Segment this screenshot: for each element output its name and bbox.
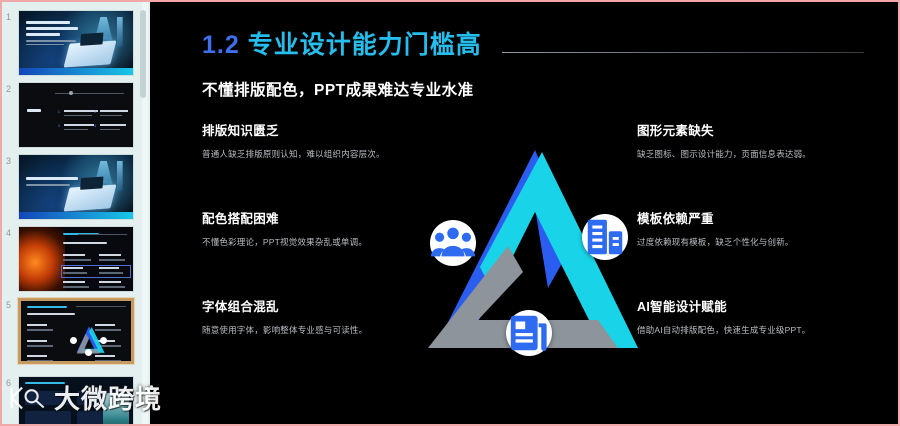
- thumbnail-slide-1[interactable]: [18, 10, 134, 76]
- thumbnail-slide-5[interactable]: [18, 298, 134, 364]
- thumbnail-slide-2-title: [27, 109, 41, 112]
- thumbnail-slide-3-canvas: [19, 155, 133, 219]
- point-title: 配色搭配困难: [202, 208, 447, 227]
- point-item-ai-design-empowerment: AI智能设计赋能 借助AI自动排版配色，快速生成专业级PPT。: [637, 296, 882, 336]
- thumbnail-slide-4-canvas: [19, 227, 133, 291]
- thumbnail-row-2[interactable]: 2 1 2 3 4: [2, 82, 142, 148]
- page-title: 1.2 专业设计能力门槛高: [202, 30, 864, 60]
- thumbnail-slide-5-title: [27, 306, 67, 308]
- thumbnail-slide-6-title: [25, 382, 65, 384]
- triangle-infographic: [422, 142, 662, 374]
- thumbnail-row-4[interactable]: 4: [2, 226, 142, 292]
- thumbnail-slide-6[interactable]: [18, 376, 134, 424]
- thumbnail-row-1[interactable]: 1: [2, 10, 142, 76]
- slide-subtitle: 不懂排版配色，PPT成果难达专业水准: [202, 78, 474, 100]
- slide-canvas[interactable]: 1.2 专业设计能力门槛高 不懂排版配色，PPT成果难达专业水准 排版知识匮乏 …: [150, 2, 898, 424]
- sidebar-scrollbar-thumb[interactable]: [140, 10, 146, 98]
- slide-thumbnail-sidebar[interactable]: 1 2: [2, 2, 150, 424]
- slide-number-5: 5: [2, 298, 18, 310]
- orange-abstract-artwork: [19, 227, 65, 291]
- badge-people[interactable]: [430, 220, 476, 266]
- thumbnail-slide-4[interactable]: [18, 226, 134, 292]
- thumbnail-slide-2[interactable]: 1 2 3 4: [18, 82, 134, 148]
- slide-number-1: 1: [2, 10, 18, 22]
- product-illustration: [103, 393, 129, 424]
- point-title: 排版知识匮乏: [202, 120, 447, 139]
- card-3: [25, 411, 71, 424]
- card-1: [25, 391, 71, 405]
- thumbnail-slide-6-canvas: [19, 377, 133, 424]
- point-description: 过度依赖现有模板，缺乏个性化与创新。: [637, 236, 882, 248]
- point-item-template-dependency: 模板依赖严重 过度依赖现有模板，缺乏个性化与创新。: [637, 208, 882, 248]
- point-item-typography-knowledge: 排版知识匮乏 普通人缺乏排版原则认知，难以组织内容层次。: [202, 120, 447, 160]
- page-title-text: 专业设计能力门槛高: [248, 31, 482, 59]
- laptop-illustration: [63, 184, 116, 211]
- point-item-color-matching: 配色搭配困难 不懂色彩理论，PPT视觉效果杂乱或单调。: [202, 208, 447, 248]
- thumbnail-row-3[interactable]: 3: [2, 154, 142, 220]
- thumbnail-accent-bar: [19, 68, 133, 75]
- point-item-graphic-elements: 图形元素缺失 缺乏图标、图示设计能力，页面信息表达弱。: [637, 120, 882, 160]
- point-title: 模板依赖严重: [637, 208, 882, 227]
- point-title: AI智能设计赋能: [637, 296, 882, 315]
- presentation-editor-window: 1 2: [0, 0, 900, 426]
- slide-number-6: 6: [2, 376, 18, 388]
- point-description: 普通人缺乏排版原则认知，难以组织内容层次。: [202, 148, 447, 160]
- point-description: 借助AI自动排版配色，快速生成专业级PPT。: [637, 324, 882, 336]
- page-title-number: 1.2: [202, 31, 240, 59]
- slide-number-2: 2: [2, 82, 18, 94]
- people-group-icon: [430, 220, 476, 266]
- document-list-icon: [506, 310, 552, 356]
- title-divider-line: [502, 52, 864, 53]
- point-description: 随意使用字体，影响整体专业感与可读性。: [202, 324, 447, 336]
- badge-document[interactable]: [506, 310, 552, 356]
- thumbnail-row-5[interactable]: 5: [2, 298, 142, 364]
- sidebar-scrollbar-track[interactable]: [142, 2, 148, 424]
- point-title: 图形元素缺失: [637, 120, 882, 139]
- thumbnail-slide-3-title: [26, 177, 78, 188]
- mini-triangle-infographic: [72, 325, 106, 355]
- thumbnail-slide-5-canvas: [21, 301, 131, 361]
- slide-number-3: 3: [2, 154, 18, 166]
- badge-office[interactable]: [582, 214, 628, 260]
- divider-line: [55, 93, 123, 94]
- thumbnail-accent-bar: [19, 212, 133, 219]
- point-description: 不懂色彩理论，PPT视觉效果杂乱或单调。: [202, 236, 447, 248]
- point-title: 字体组合混乱: [202, 296, 447, 315]
- point-description: 缺乏图标、图示设计能力，页面信息表达弱。: [637, 148, 882, 160]
- thumbnail-slide-3[interactable]: [18, 154, 134, 220]
- thumbnail-slide-2-canvas: 1 2 3 4: [19, 83, 133, 147]
- office-building-icon: [582, 214, 628, 260]
- point-item-font-combination: 字体组合混乱 随意使用字体，影响整体专业感与可读性。: [202, 296, 447, 336]
- slide-title-row: 1.2 专业设计能力门槛高: [202, 30, 864, 64]
- thumbnail-row-6[interactable]: 6: [2, 376, 142, 424]
- thumbnail-slide-1-title: [26, 21, 78, 47]
- slide-number-4: 4: [2, 226, 18, 238]
- thumbnail-slide-1-canvas: [19, 11, 133, 75]
